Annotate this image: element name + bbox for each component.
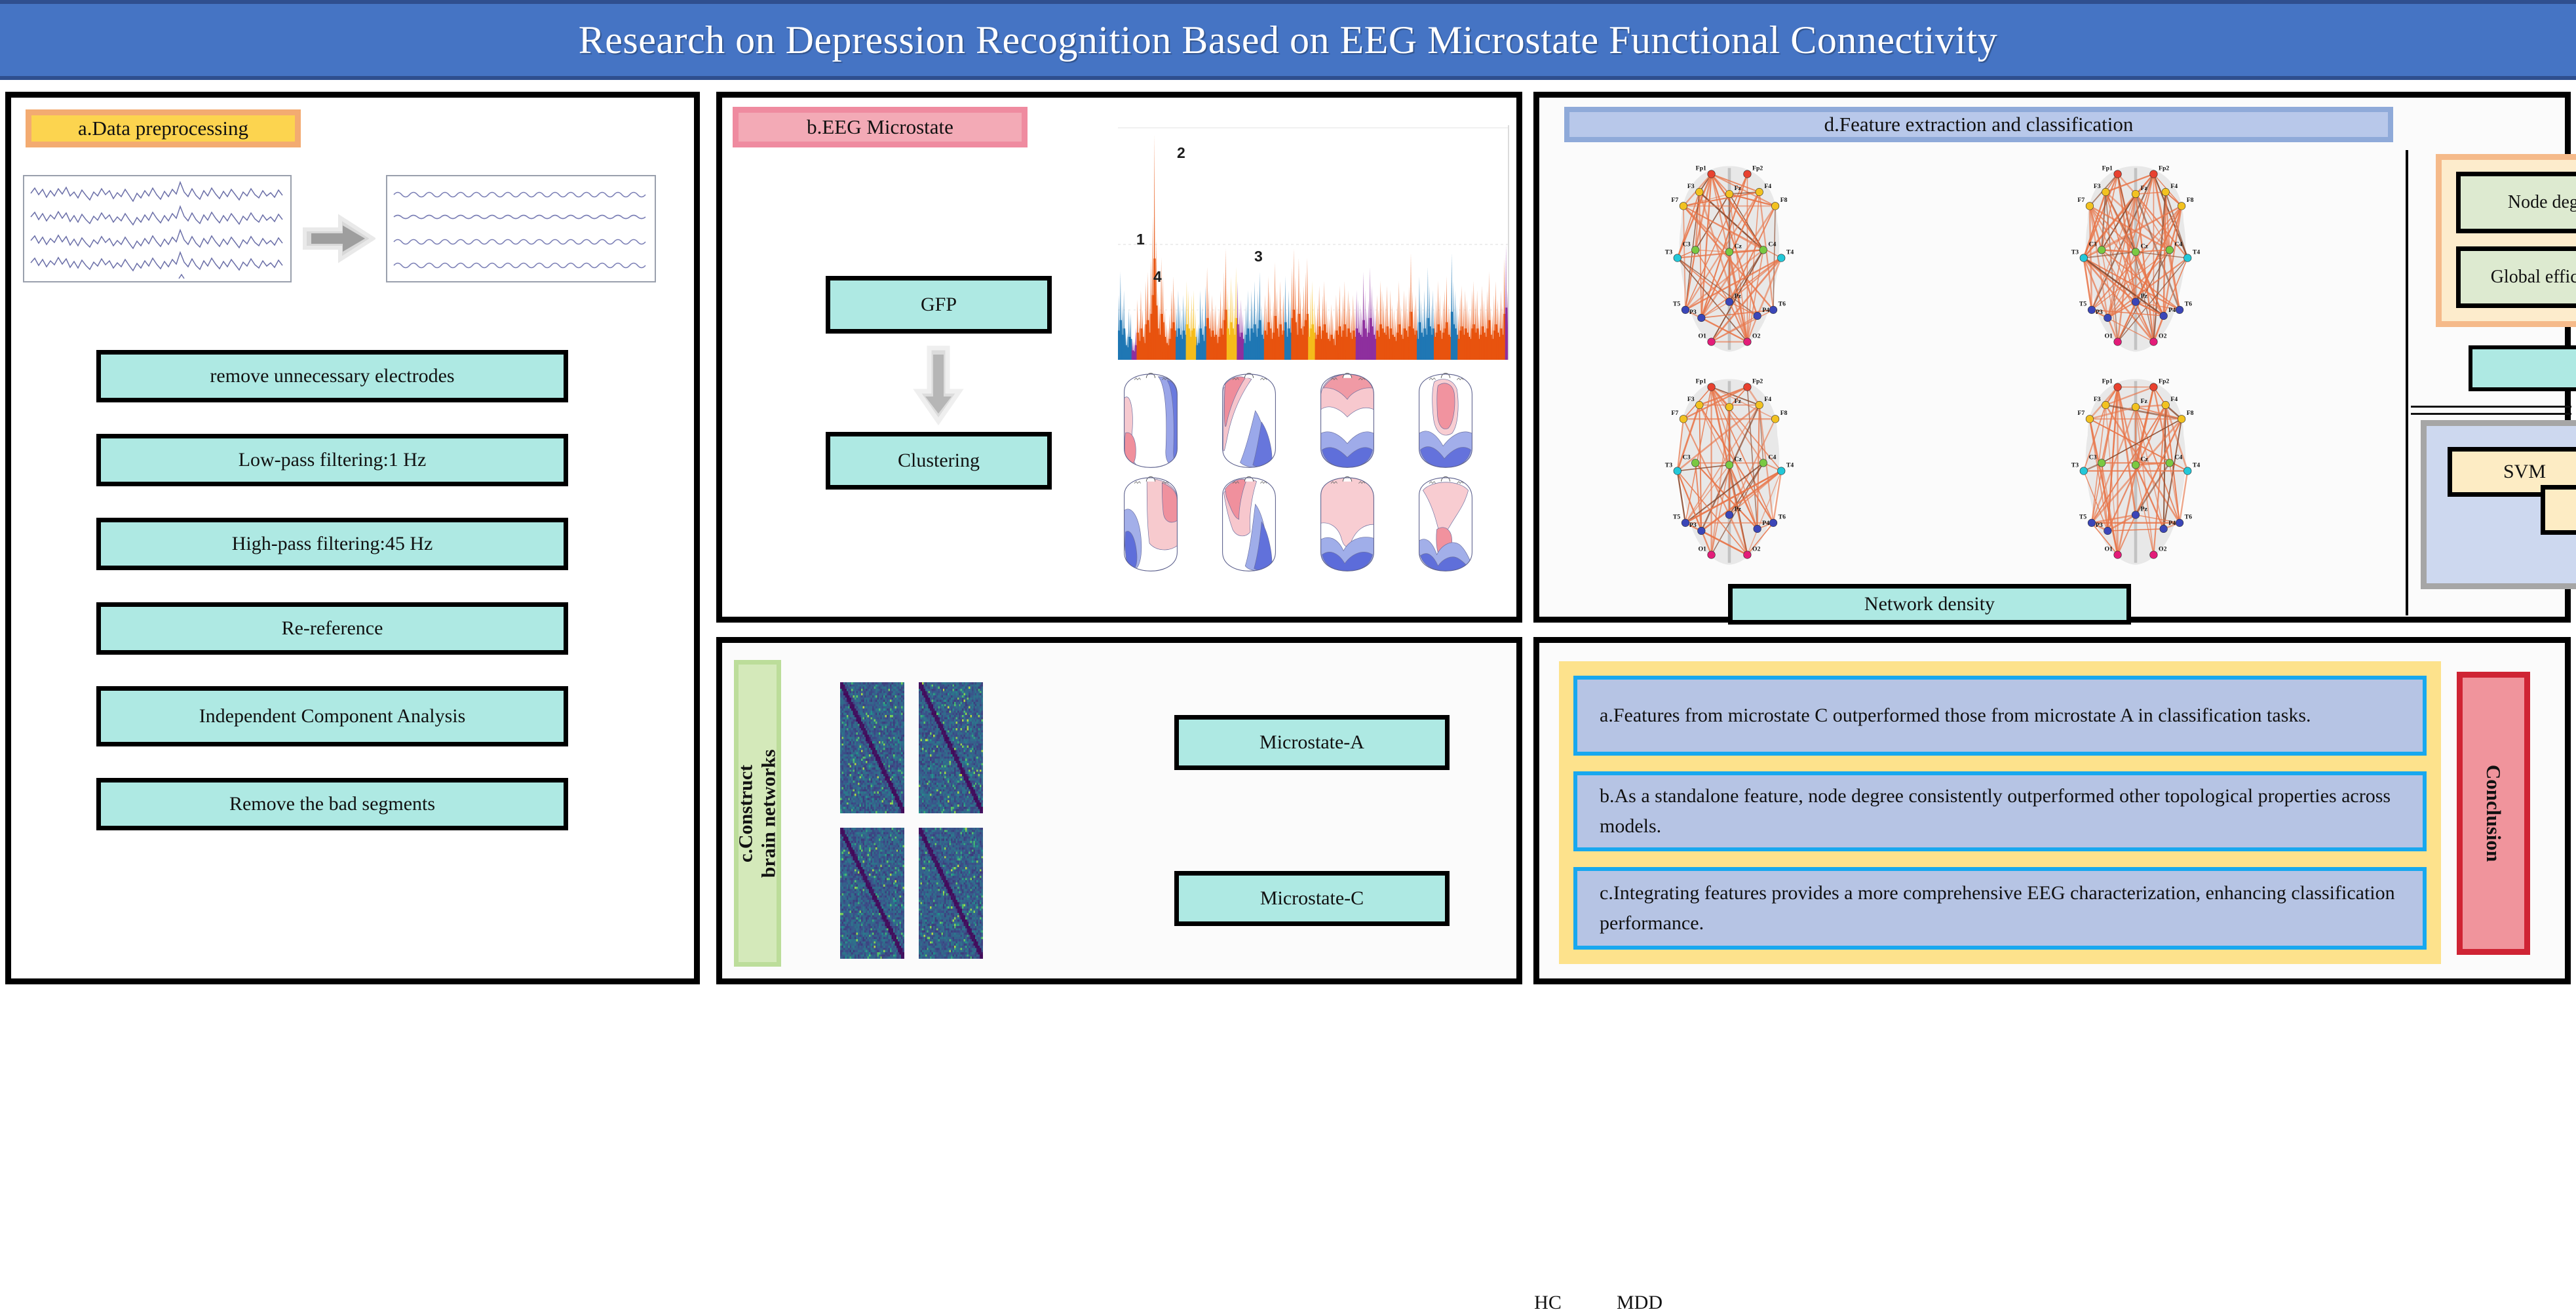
- svg-text:F3: F3: [1687, 183, 1695, 190]
- conclusion-side-label-text: Conclusion: [2482, 765, 2505, 862]
- topomap-B-row2: [1216, 476, 1282, 576]
- conclusion-item-a-text: a.Features from microstate C outperforme…: [1600, 701, 2311, 731]
- conclusion-side-label: Conclusion: [2457, 672, 2530, 955]
- svg-text:F7: F7: [1671, 197, 1678, 204]
- svg-text:Fz: Fz: [1735, 398, 1742, 405]
- svg-text:O1: O1: [1698, 545, 1706, 552]
- preprocessing-step-5-label: Independent Component Analysis: [199, 705, 466, 727]
- connectivity-matrix-A-MDD: [919, 682, 983, 813]
- panel-data-preprocessing: a.Data preprocessing: [5, 92, 700, 984]
- svg-text:Fp1: Fp1: [2102, 377, 2113, 385]
- conclusion-item-c: c.Integrating features provides a more c…: [1573, 867, 2427, 950]
- preprocessing-step-6[interactable]: Remove the bad segments: [96, 778, 568, 830]
- feature-box-node-degree[interactable]: Node degree: [2456, 172, 2576, 233]
- gfp-area-chart-svg: 1 2 4 3: [1115, 116, 1515, 366]
- topomap-D-row1: [1413, 373, 1478, 473]
- gfp-peak-label-1: 1: [1136, 231, 1145, 248]
- brain-network-C-HC: Fp1Fp2F3FzF4F7F8C3CzC4T3T4T5T6P3PzP4O1O2: [1605, 363, 1854, 573]
- svg-text:O1: O1: [2104, 332, 2113, 339]
- panel-a-header-label: a.Data preprocessing: [78, 117, 248, 140]
- brain-network-grid: Fp1Fp2F3FzF4F7F8C3CzC4T3T4T5T6P3PzP4O1O2…: [1605, 150, 2385, 570]
- connectivity-matrix-C-MDD: [919, 828, 983, 959]
- svg-text:Fp1: Fp1: [1696, 164, 1706, 172]
- svg-text:F4: F4: [2170, 183, 2178, 190]
- svg-text:C4: C4: [1768, 241, 1776, 248]
- topomap-C-row1: [1315, 373, 1380, 473]
- svg-text:Fp2: Fp2: [2159, 164, 2169, 172]
- svg-text:F7: F7: [2077, 410, 2085, 417]
- svg-text:Fz: Fz: [2141, 398, 2148, 405]
- connectivity-matrix-A-HC: [840, 682, 904, 813]
- svg-text:T4: T4: [1786, 248, 1794, 256]
- svg-text:T4: T4: [2193, 461, 2201, 469]
- feature-group-container: Node degree Clustering coefficient Globa…: [2436, 154, 2576, 327]
- svg-text:Fp1: Fp1: [1696, 377, 1706, 385]
- topomap-A-row2: [1118, 476, 1183, 576]
- preprocessing-step-6-label: Remove the bad segments: [229, 793, 435, 815]
- raw-eeg-trace-box: [23, 175, 292, 282]
- filtered-eeg-trace-box: [386, 175, 656, 282]
- gfp-chart: 1 2 4 3: [1115, 116, 1515, 366]
- panel-feature-extraction-classification: d.Feature extraction and classification …: [1533, 92, 2571, 623]
- svg-text:P4: P4: [2168, 520, 2176, 527]
- preprocessing-step-2-label: Low-pass filtering:1 Hz: [239, 449, 427, 471]
- filtered-eeg-traces-icon: [387, 176, 655, 281]
- svg-text:F8: F8: [1780, 410, 1788, 417]
- svg-text:P4: P4: [1762, 520, 1769, 527]
- svg-text:T6: T6: [2185, 514, 2193, 521]
- svg-text:P4: P4: [1762, 307, 1769, 314]
- preprocessing-step-3[interactable]: High-pass filtering:45 Hz: [96, 518, 568, 570]
- svg-text:C4: C4: [2174, 241, 2182, 248]
- microstate-c-box-label: Microstate-C: [1260, 887, 1364, 910]
- svg-text:O2: O2: [1752, 332, 1761, 339]
- classifier-svm-label: SVM: [2503, 461, 2546, 483]
- preprocessing-step-4-label: Re-reference: [282, 617, 383, 640]
- classifier-bp[interactable]: BP: [2541, 485, 2576, 535]
- svg-text:C3: C3: [1683, 454, 1691, 461]
- svg-text:F3: F3: [2094, 183, 2101, 190]
- brain-network-A-MDD: Fp1Fp2F3FzF4F7F8C3CzC4T3T4T5T6P3PzP4O1O2: [2011, 150, 2260, 360]
- svg-text:T3: T3: [1665, 461, 1673, 469]
- svg-text:F7: F7: [1671, 410, 1678, 417]
- svg-text:C3: C3: [2089, 454, 2097, 461]
- svg-text:C3: C3: [1683, 241, 1691, 248]
- svg-text:F3: F3: [2094, 396, 2101, 403]
- panel-c-side-label-line1: c.Construct: [735, 764, 757, 862]
- svg-text:P3: P3: [2096, 522, 2103, 529]
- conclusion-items-container: a.Features from microstate C outperforme…: [1559, 661, 2441, 964]
- svg-text:P4: P4: [2168, 307, 2176, 314]
- feature-box-global-efficiency-label: Global efficiency: [2491, 267, 2576, 288]
- svg-text:Cz: Cz: [2141, 455, 2149, 463]
- svg-text:F8: F8: [2187, 197, 2194, 204]
- svg-text:Cz: Cz: [1735, 242, 1742, 250]
- svg-text:Fp2: Fp2: [1752, 377, 1763, 385]
- svg-text:P3: P3: [1689, 309, 1697, 316]
- svg-text:O2: O2: [2159, 545, 2167, 552]
- svg-text:F8: F8: [1780, 197, 1788, 204]
- preprocessing-step-2[interactable]: Low-pass filtering:1 Hz: [96, 434, 568, 486]
- svg-text:F7: F7: [2077, 197, 2085, 204]
- svg-text:F4: F4: [1764, 183, 1771, 190]
- svg-text:O2: O2: [2159, 332, 2167, 339]
- microstate-a-box-label: Microstate-A: [1259, 731, 1364, 754]
- svg-text:T6: T6: [1778, 514, 1786, 521]
- raw-eeg-traces-icon: [24, 176, 290, 281]
- svg-text:T5: T5: [1673, 514, 1681, 521]
- topomap-C-row2: [1315, 476, 1380, 576]
- brain-network-A-HC: Fp1Fp2F3FzF4F7F8C3CzC4T3T4T5T6P3PzP4O1O2: [1605, 150, 1854, 360]
- preprocessing-step-1[interactable]: remove unnecessary electrodes: [96, 350, 568, 402]
- page-title: Research on Depression Recognition Based…: [579, 18, 1998, 63]
- network-density-label: Network density: [1864, 593, 1995, 615]
- feature-box-global-efficiency[interactable]: Global efficiency: [2456, 246, 2576, 308]
- svg-text:Pz: Pz: [1735, 506, 1742, 513]
- svg-text:T4: T4: [2193, 248, 2201, 256]
- svg-text:T3: T3: [2071, 461, 2079, 469]
- preprocessing-step-3-label: High-pass filtering:45 Hz: [232, 533, 433, 555]
- connectivity-matrix-C-HC: [840, 828, 904, 959]
- panel-c-side-label-line2: brain networks: [758, 749, 780, 878]
- svg-text:Pz: Pz: [2141, 506, 2148, 513]
- svg-text:T5: T5: [2079, 514, 2087, 521]
- topomap-D-row2: [1413, 476, 1478, 576]
- svg-text:Fp1: Fp1: [2102, 164, 2113, 172]
- svg-text:T5: T5: [2079, 301, 2087, 308]
- svg-text:C3: C3: [2089, 241, 2097, 248]
- microstate-topomap-grid: [1109, 373, 1515, 583]
- conclusion-item-a: a.Features from microstate C outperforme…: [1573, 676, 2427, 756]
- panel-d-horizontal-rule: [2411, 406, 2571, 415]
- conclusion-item-b-text: b.As a standalone feature, node degree c…: [1600, 781, 2400, 842]
- conclusion-item-b: b.As a standalone feature, node degree c…: [1573, 771, 2427, 851]
- svg-text:T6: T6: [2185, 301, 2193, 308]
- classification-group-container: SVM BP KNN: [2421, 420, 2576, 589]
- panel-conclusion: a.Features from microstate C outperforme…: [1533, 637, 2571, 984]
- panel-d-divider: [2406, 150, 2408, 615]
- feature-box-node-degree-label: Node degree: [2508, 192, 2576, 213]
- conclusion-item-c-text: c.Integrating features provides a more c…: [1600, 878, 2400, 939]
- feature-extraction-box[interactable]: Feature extraction: [2469, 345, 2576, 391]
- svg-text:Fz: Fz: [2141, 185, 2148, 192]
- svg-text:Cz: Cz: [2141, 242, 2149, 250]
- svg-text:T3: T3: [1665, 248, 1673, 256]
- svg-text:C4: C4: [1768, 454, 1776, 461]
- gfp-peak-label-3: 3: [1254, 248, 1263, 265]
- gfp-label: GFP: [921, 294, 957, 316]
- gfp-to-clustering-arrow-icon: [912, 345, 965, 425]
- microstate-a-box[interactable]: Microstate-A: [1174, 715, 1450, 770]
- svg-text:Fz: Fz: [1735, 185, 1742, 192]
- svg-text:O2: O2: [1752, 545, 1761, 552]
- svg-text:T4: T4: [1786, 461, 1794, 469]
- gfp-peak-label-4: 4: [1153, 268, 1162, 285]
- svg-text:T5: T5: [1673, 301, 1681, 308]
- svg-text:Fp2: Fp2: [2159, 377, 2169, 385]
- svg-text:O1: O1: [2104, 545, 2113, 552]
- panel-d-header: d.Feature extraction and classification: [1564, 107, 2393, 142]
- svg-text:F8: F8: [2187, 410, 2194, 417]
- matrix-column-header-mdd: MDD: [1587, 1292, 1692, 1314]
- svg-text:P3: P3: [1689, 522, 1697, 529]
- poster-title-banner: Research on Depression Recognition Based…: [0, 0, 2576, 80]
- svg-text:F4: F4: [1764, 396, 1771, 403]
- microstate-c-box[interactable]: Microstate-C: [1174, 871, 1450, 926]
- svg-text:Cz: Cz: [1735, 455, 1742, 463]
- svg-text:O1: O1: [1698, 332, 1706, 339]
- svg-text:T6: T6: [1778, 301, 1786, 308]
- clustering-box[interactable]: Clustering: [826, 432, 1052, 490]
- panel-a-header: a.Data preprocessing: [26, 109, 301, 147]
- svg-text:Pz: Pz: [1735, 293, 1742, 300]
- svg-text:T3: T3: [2071, 248, 2079, 256]
- svg-text:Pz: Pz: [2141, 293, 2148, 300]
- preprocessing-step-5[interactable]: Independent Component Analysis: [96, 686, 568, 746]
- preprocessing-arrow-icon: [302, 212, 375, 265]
- svg-text:Fp2: Fp2: [1752, 164, 1763, 172]
- panel-b-header-label: b.EEG Microstate: [807, 115, 953, 139]
- topomap-A-row1: [1118, 373, 1183, 473]
- panel-construct-brain-networks: c.Construct brain networks HC MDD Micros…: [716, 637, 1522, 984]
- panel-c-side-label-text: c.Construct brain networks: [735, 749, 781, 878]
- gfp-box[interactable]: GFP: [826, 276, 1052, 334]
- preprocessing-step-4[interactable]: Re-reference: [96, 602, 568, 655]
- svg-text:F3: F3: [1687, 396, 1695, 403]
- preprocessing-step-1-label: remove unnecessary electrodes: [210, 365, 454, 387]
- matrix-column-header-hc: HC: [1509, 1292, 1587, 1314]
- panel-eeg-microstate: b.EEG Microstate GFP Clustering 1 2 4 3: [716, 92, 1522, 623]
- svg-text:P3: P3: [2096, 309, 2103, 316]
- clustering-label: Clustering: [898, 450, 980, 472]
- gfp-peak-label-2: 2: [1177, 144, 1185, 161]
- network-density-box[interactable]: Network density: [1728, 584, 2131, 625]
- panel-c-side-label: c.Construct brain networks: [734, 660, 781, 967]
- panel-b-header: b.EEG Microstate: [733, 107, 1028, 147]
- panel-d-header-label: d.Feature extraction and classification: [1824, 113, 2134, 136]
- svg-text:F4: F4: [2170, 396, 2178, 403]
- topomap-B-row1: [1216, 373, 1282, 473]
- svg-text:C4: C4: [2174, 454, 2182, 461]
- brain-network-C-MDD: Fp1Fp2F3FzF4F7F8C3CzC4T3T4T5T6P3PzP4O1O2: [2011, 363, 2260, 573]
